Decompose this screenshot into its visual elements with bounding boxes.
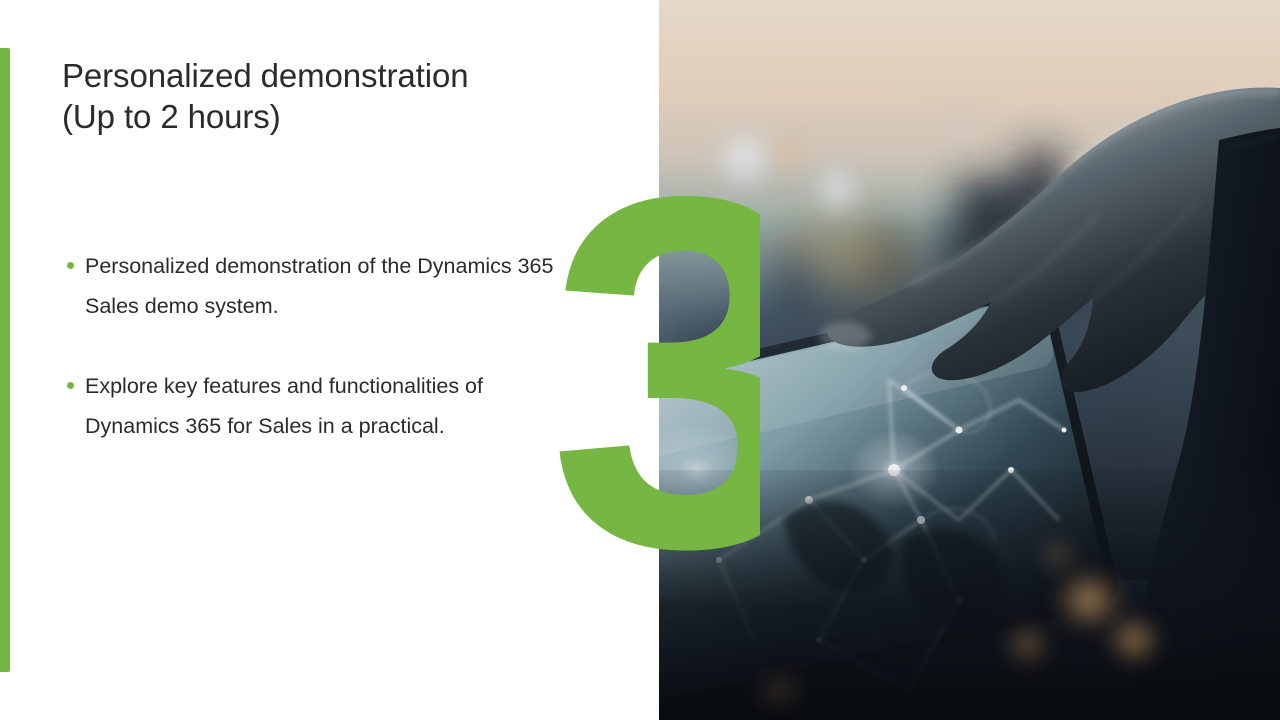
page-title: Personalized demonstration (Up to 2 hour… — [62, 55, 622, 137]
slide: Personalized demonstration (Up to 2 hour… — [0, 0, 1280, 720]
list-item: Explore key features and functionalities… — [62, 366, 582, 446]
bullet-text: Personalized demonstration of the Dynami… — [85, 246, 582, 326]
photo-artwork — [659, 0, 1280, 720]
slide-photo — [659, 0, 1280, 720]
list-item: Personalized demonstration of the Dynami… — [62, 246, 582, 326]
bullet-dot-icon — [67, 382, 74, 389]
bullet-dot-icon — [67, 262, 74, 269]
bullet-list: Personalized demonstration of the Dynami… — [62, 246, 582, 446]
left-accent-bar — [0, 48, 10, 672]
bullet-text: Explore key features and functionalities… — [85, 366, 582, 446]
